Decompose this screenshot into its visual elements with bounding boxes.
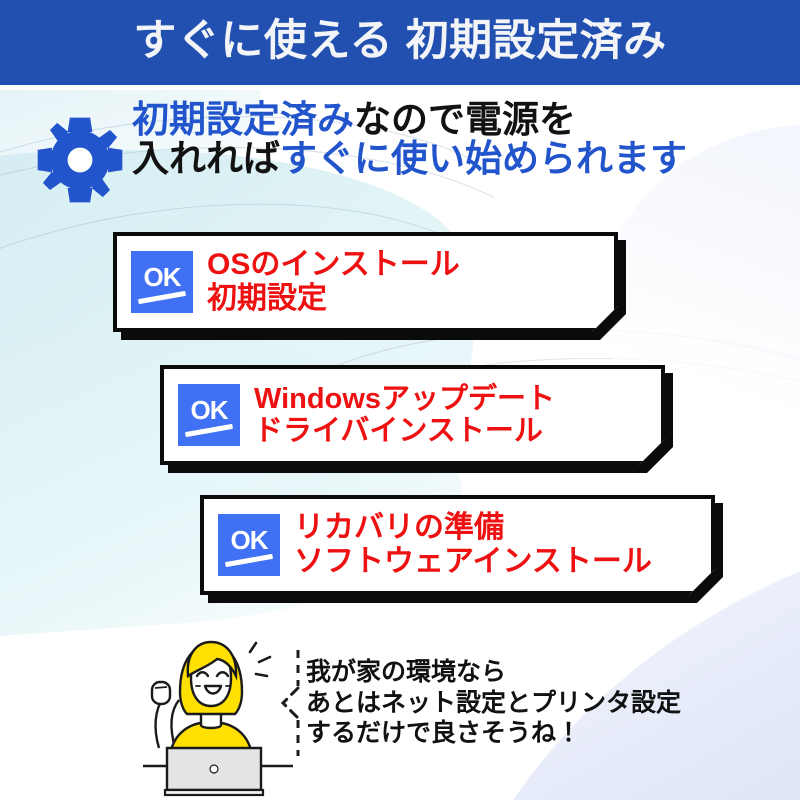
- checklist-card-2-text: Windowsアップデート ドライバインストール: [254, 383, 555, 448]
- checklist-card-1-text: OSのインストール 初期設定: [207, 248, 460, 315]
- headline-line-2: 入れればすぐに使い始められます: [132, 139, 687, 178]
- headline-text: 初期設定済みなので電源を 入れればすぐに使い始められます: [132, 100, 687, 178]
- ok-badge-icon: OK: [178, 384, 240, 446]
- speech-tail-icon: [278, 648, 304, 758]
- headline-line-1: 初期設定済みなので電源を: [132, 100, 687, 139]
- speech-line-2: あとはネット設定とプリンタ設定: [306, 688, 681, 719]
- card-3-line-2: ソフトウェアインストール: [294, 545, 652, 579]
- checklist-card-3-text: リカバリの準備 ソフトウェアインストール: [294, 511, 652, 578]
- headline-highlight-2: すぐに使い始められます: [280, 138, 687, 179]
- checklist-card-1: OK OSのインストール 初期設定: [113, 232, 618, 332]
- ok-badge-label: OK: [218, 525, 280, 556]
- banner-title: すぐに使える 初期設定済み: [133, 20, 666, 66]
- headline-plain-1: なので電源を: [354, 99, 576, 140]
- header-banner: すぐに使える 初期設定済み: [0, 0, 800, 85]
- card-1-line-2: 初期設定: [207, 282, 460, 316]
- card-2-line-2: ドライバインストール: [254, 415, 555, 447]
- speech-line-3: するだけで良さそうね！: [306, 718, 681, 749]
- checklist-card-2: OK Windowsアップデート ドライバインストール: [160, 365, 665, 465]
- ok-badge-icon: OK: [218, 514, 280, 576]
- gear-icon: [34, 114, 126, 211]
- card-1-line-1: OSのインストール: [207, 248, 460, 282]
- headline-section: 初期設定済みなので電源を 入れればすぐに使い始められます: [0, 100, 800, 211]
- excitement-marks: [250, 643, 270, 676]
- ok-badge-label: OK: [131, 262, 193, 293]
- ok-badge-icon: OK: [131, 251, 193, 313]
- card-3-line-1: リカバリの準備: [294, 511, 652, 545]
- laptop: [165, 748, 263, 795]
- checklist-card-3: OK リカバリの準備 ソフトウェアインストール: [200, 495, 715, 595]
- card-2-line-1: Windowsアップデート: [254, 383, 555, 415]
- promo-poster: すぐに使える 初期設定済み 初期設定済み: [0, 0, 800, 800]
- speech-text: 我が家の環境なら あとはネット設定とプリンタ設定 するだけで良さそうね！: [306, 657, 681, 749]
- speech-line-1: 我が家の環境なら: [306, 657, 681, 688]
- speech-bubble: 我が家の環境なら あとはネット設定とプリンタ設定 するだけで良さそうね！: [278, 648, 681, 758]
- headline-plain-2: 入れれば: [132, 138, 280, 179]
- headline-highlight-1: 初期設定済み: [132, 99, 354, 140]
- ok-badge-label: OK: [178, 395, 240, 426]
